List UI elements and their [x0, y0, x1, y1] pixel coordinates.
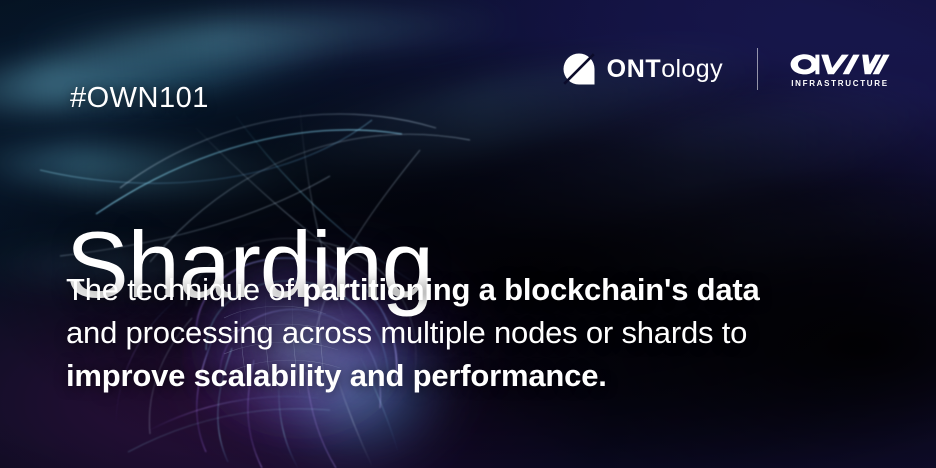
own-wordmark-icon: [788, 51, 892, 77]
hashtag-label: #OWN101: [70, 84, 209, 113]
definition-line-3: improve scalability and performance.: [66, 354, 896, 397]
own-subtitle: INFRASTRUCTURE: [791, 80, 889, 88]
ontology-leaf-icon: [562, 52, 596, 86]
own-logo[interactable]: INFRASTRUCTURE: [788, 51, 892, 88]
definition-text: The technique of partitioning a blockcha…: [66, 268, 896, 397]
social-card: ONTology INFRASTRUCTURE: [0, 0, 936, 468]
ontology-wordmark-bold: ONT: [607, 55, 662, 83]
definition-line-1-normal: The technique of: [66, 272, 302, 307]
definition-line-1-bold: partitioning a blockchain's data: [302, 272, 759, 307]
card-content: ONTology INFRASTRUCTURE: [0, 0, 936, 468]
definition-line-2: and processing across multiple nodes or …: [66, 311, 896, 354]
logo-divider: [757, 48, 758, 90]
logo-lockup: ONTology INFRASTRUCTURE: [562, 46, 892, 92]
definition-line-3-bold: improve scalability and performance.: [66, 358, 607, 393]
ontology-wordmark: ONTology: [607, 57, 723, 82]
definition-line-1: The technique of partitioning a blockcha…: [66, 268, 896, 311]
ontology-wordmark-light: ology: [661, 55, 723, 83]
ontology-logo[interactable]: ONTology: [562, 49, 723, 89]
